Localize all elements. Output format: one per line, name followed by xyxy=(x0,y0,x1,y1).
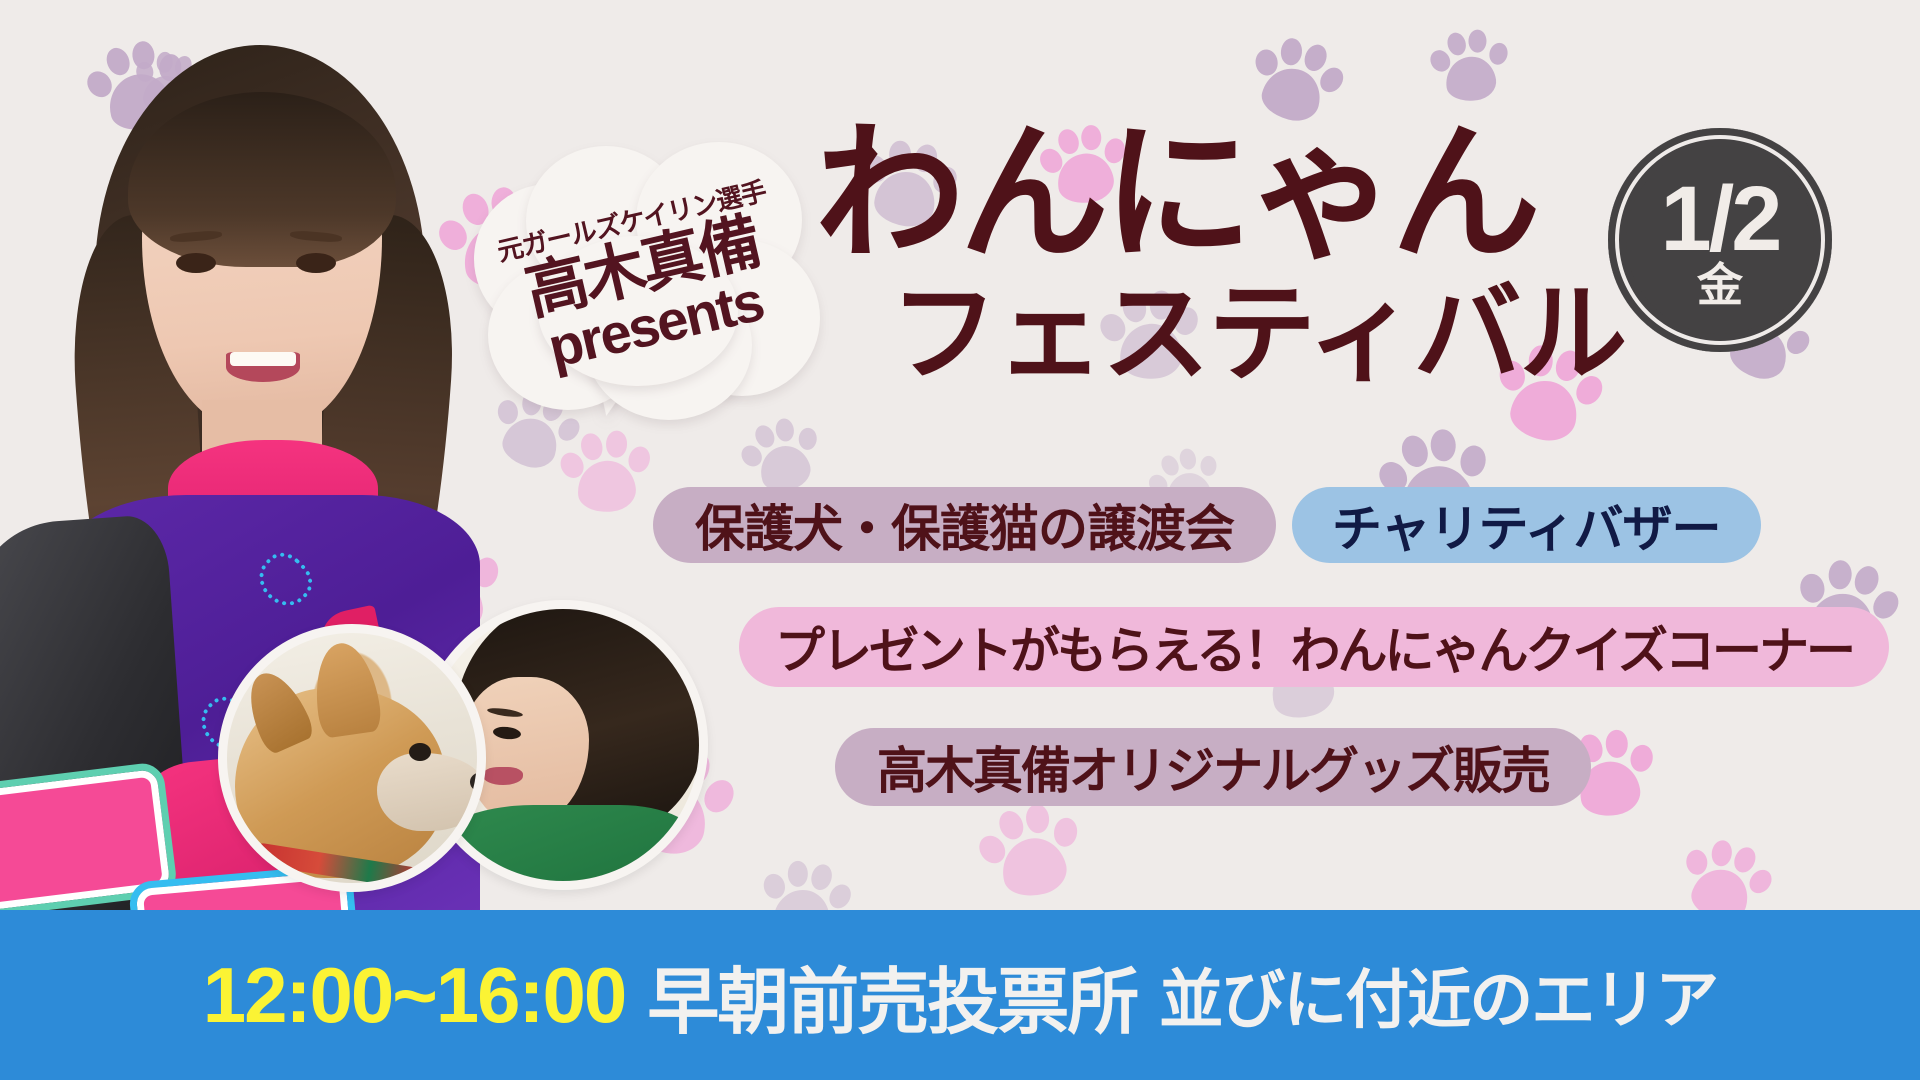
promotional-banner: 元ガールズケイリン選手 高木真備 presents わんにゃん フェスティバル … xyxy=(0,0,1920,1080)
event-title-sub: フェスティバル xyxy=(890,280,1626,388)
event-area: 並びに付近のエリア xyxy=(1159,949,1717,1041)
portrait-eye-left xyxy=(176,253,216,273)
owner-mouth xyxy=(483,767,523,785)
dog-photo-circle xyxy=(218,624,486,892)
portrait-teeth xyxy=(230,352,296,366)
paw-print-icon xyxy=(556,426,654,520)
paw-print-icon xyxy=(1425,25,1513,109)
event-title-main: わんにゃん xyxy=(815,118,1535,268)
event-date-badge: 1/2 金 xyxy=(1608,128,1832,352)
dog-eye xyxy=(409,743,431,761)
event-date-day: 1/2 xyxy=(1661,178,1780,261)
event-date-weekday: 金 xyxy=(1697,262,1743,308)
portrait-mouth xyxy=(226,352,300,382)
feature-pill-quiz-corner: プレゼントがもらえる！わんにゃんクイズコーナー xyxy=(739,607,1889,687)
event-info-bar: 12:00~16:00 早朝前売投票所 並びに付近のエリア xyxy=(0,910,1920,1080)
feature-pill-adoption: 保護犬・保護猫の譲渡会 xyxy=(653,487,1276,563)
paw-print-icon xyxy=(970,794,1090,910)
dog-and-owner-photo xyxy=(218,600,708,900)
speech-bubble-text: 元ガールズケイリン選手 高木真備 presents xyxy=(442,104,846,446)
feature-pill-original-goods: 高木真備オリジナルグッズ販売 xyxy=(835,728,1591,806)
portrait-eye-right xyxy=(296,253,336,273)
event-time: 12:00~16:00 xyxy=(203,950,626,1041)
dog-ear-near xyxy=(309,639,383,739)
event-venue: 早朝前売投票所 xyxy=(647,943,1137,1048)
dog-muzzle xyxy=(377,753,486,831)
feature-pill-charity-bazaar: チャリティバザー xyxy=(1292,487,1761,563)
presenter-speech-bubble: 元ガールズケイリン選手 高木真備 presents xyxy=(468,140,820,410)
